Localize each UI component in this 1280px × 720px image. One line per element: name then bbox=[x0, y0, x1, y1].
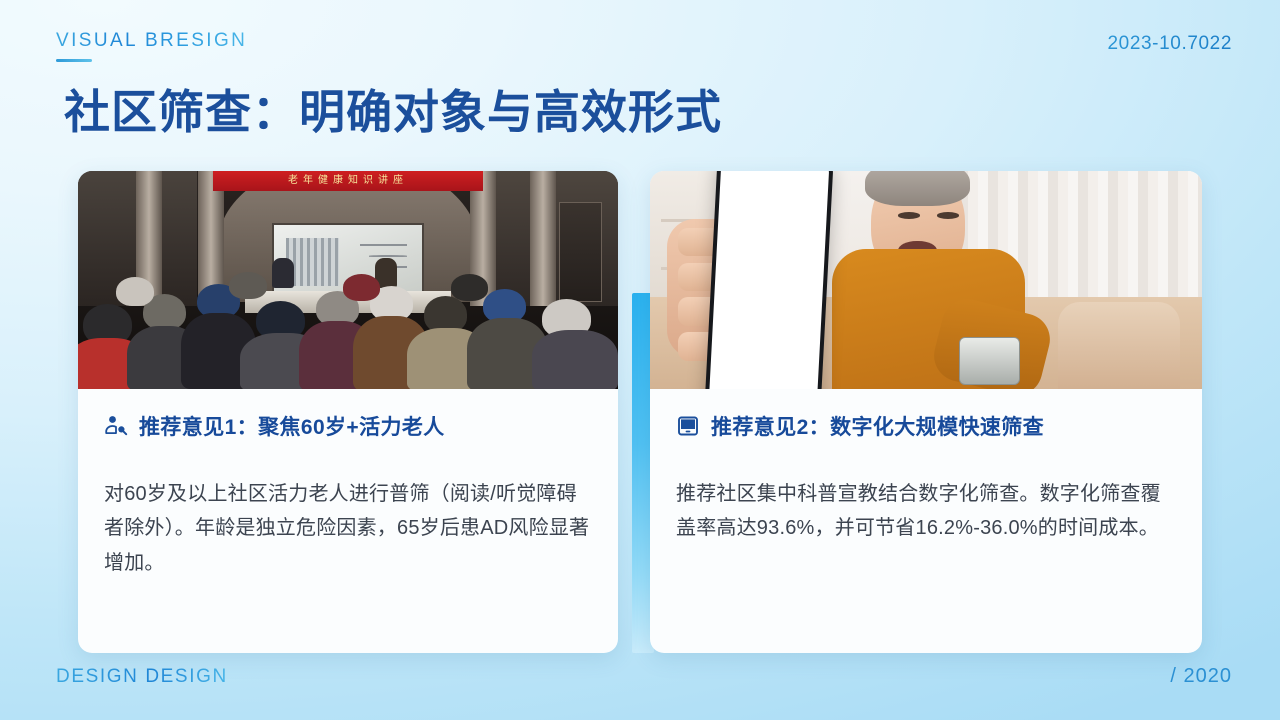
slide-root: VISUAL BRESIGN 2023-10.7022 社区筛查：明确对象与高效… bbox=[0, 0, 1280, 720]
tablet-device-icon bbox=[676, 414, 700, 438]
card-1-header: 推荐意见1：聚焦60岁+活力老人 bbox=[104, 411, 592, 441]
photo-banner-text: 老年健康知识讲座 bbox=[213, 171, 483, 191]
card-1-heading: 推荐意见1：聚焦60岁+活力老人 bbox=[139, 411, 445, 441]
footer-brand: DESIGN DESIGN bbox=[56, 666, 228, 688]
card-recommendation-1[interactable]: 老年健康知识讲座 bbox=[78, 171, 618, 653]
card-recommendation-2[interactable]: 推荐意见2：数字化大规模快速筛查 推荐社区集中科普宣教结合数字化筛查。数字化筛查… bbox=[650, 171, 1202, 653]
slide-date: 2023-10.7022 bbox=[1108, 33, 1232, 55]
card-2-heading: 推荐意见2：数字化大规模快速筛查 bbox=[711, 411, 1044, 441]
photo-senior-with-phone bbox=[650, 171, 1202, 389]
brand-title: VISUAL BRESIGN bbox=[56, 30, 247, 52]
card-1-body: 对60岁及以上社区活力老人进行普筛（阅读/听觉障碍者除外）。年龄是独立危险因素，… bbox=[104, 477, 592, 580]
brand-underline bbox=[56, 59, 92, 62]
user-search-icon bbox=[104, 414, 128, 438]
page-title: 社区筛查：明确对象与高效形式 bbox=[64, 76, 722, 142]
footer-page-number: / 2020 bbox=[1170, 665, 1232, 688]
brand-logo: VISUAL BRESIGN bbox=[56, 30, 247, 62]
card-2-header: 推荐意见2：数字化大规模快速筛查 bbox=[676, 411, 1176, 441]
audience-crowd bbox=[78, 267, 618, 389]
cards-container: 老年健康知识讲座 bbox=[78, 171, 1202, 653]
photo-lecture-hall: 老年健康知识讲座 bbox=[78, 171, 618, 389]
card-2-body: 推荐社区集中科普宣教结合数字化筛查。数字化筛查覆盖率高达93.6%，并可节省16… bbox=[676, 477, 1176, 546]
